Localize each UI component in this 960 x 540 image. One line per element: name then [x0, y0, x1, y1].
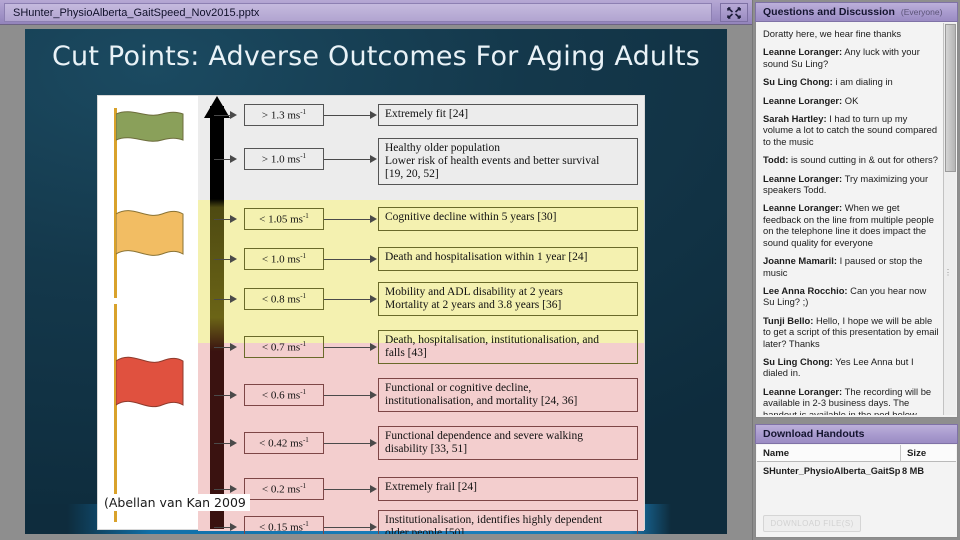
outcome-description-box: Functional or cognitive decline,institut… — [378, 378, 638, 412]
gait-speed-threshold-box: < 0.7 ms-1 — [244, 336, 324, 358]
row-arrow-icon — [370, 485, 377, 493]
threshold-value: < 0.8 ms-1 — [262, 292, 306, 306]
row-arrow-icon — [370, 155, 377, 163]
row-arrow-icon — [370, 295, 377, 303]
row-inbound-connector — [214, 395, 232, 396]
gait-speed-threshold-box: < 0.8 ms-1 — [244, 288, 324, 310]
chat-message-author: Su Ling Chong: — [763, 356, 833, 367]
outcome-line: Functional or cognitive decline, — [385, 382, 631, 395]
outcome-line: Functional dependence and severe walking — [385, 430, 631, 443]
chat-message-author: Sarah Hartley: — [763, 113, 827, 124]
threshold-exponent: -1 — [300, 340, 306, 348]
share-pod: SHunter_PhysioAlberta_GaitSpeed_Nov2015.… — [0, 0, 752, 540]
column-header-name: Name — [757, 448, 900, 459]
row-connector — [324, 395, 370, 396]
chat-message-author: Joanne Mamaril: — [763, 255, 837, 266]
row-connector — [324, 219, 370, 220]
outcome-line: institutionalisation, and mortality [24,… — [385, 395, 631, 408]
threshold-exponent: -1 — [300, 252, 306, 260]
red-flag — [116, 351, 184, 421]
chat-message: Leanne Loranger: The recording will be a… — [763, 386, 940, 415]
fullscreen-icon[interactable] — [720, 3, 748, 22]
row-arrow-icon — [370, 215, 377, 223]
chat-scrollbar-grip: ⋮ — [944, 268, 952, 277]
column-header-size: Size — [900, 445, 956, 461]
table-row[interactable]: SHunter_PhysioAlberta_GaitSpeed 8 MB — [757, 462, 956, 479]
threshold-exponent: -1 — [300, 482, 306, 490]
outcome-line: Extremely fit [24] — [385, 108, 631, 121]
outcome-line: Death and hospitalisation within 1 year … — [385, 251, 631, 264]
gait-speed-threshold-box: < 0.6 ms-1 — [244, 384, 324, 406]
threshold-value: < 0.2 ms-1 — [262, 482, 306, 496]
row-arrow-icon — [370, 343, 377, 351]
share-pod-body: Cut Points: Adverse Outcomes For Aging A… — [0, 25, 752, 540]
outcome-description-box: Death, hospitalisation, institutionalisa… — [378, 330, 638, 364]
handouts-pod-title: Download Handouts — [763, 428, 865, 440]
row-connector — [324, 159, 370, 160]
outcome-description-box: Extremely frail [24] — [378, 477, 638, 501]
handouts-body: Name Size SHunter_PhysioAlberta_GaitSpee… — [755, 444, 958, 538]
row-inbound-connector — [214, 443, 232, 444]
handout-file-size: 8 MB — [900, 466, 956, 476]
chat-message-author: Su Ling Chong: — [763, 76, 833, 87]
threshold-value: < 1.05 ms-1 — [259, 212, 309, 226]
threshold-value: < 0.15 ms-1 — [259, 520, 309, 534]
chat-message-author: Leanne Loranger: — [763, 386, 842, 397]
row-connector — [324, 489, 370, 490]
chat-message: Todd: is sound cutting in & out for othe… — [763, 154, 940, 165]
chat-pod: Questions and Discussion (Everyone) Dora… — [755, 2, 958, 418]
gait-speed-threshold-box: > 1.3 ms-1 — [244, 104, 324, 126]
row-inbound-connector — [214, 347, 232, 348]
chat-message-text: is sound cutting in & out for others? — [788, 154, 938, 165]
outcome-description-box: Mobility and ADL disability at 2 yearsMo… — [378, 282, 638, 316]
outcome-line: Death, hospitalisation, institutionalisa… — [385, 334, 631, 347]
chat-message: Su Ling Chong: Yes Lee Anna but I dialed… — [763, 356, 940, 379]
chat-message-author: Todd: — [763, 154, 788, 165]
outcome-description-box: Institutionalisation, identifies highly … — [378, 510, 638, 534]
right-column: Questions and Discussion (Everyone) Dora… — [753, 0, 960, 540]
threshold-value: > 1.0 ms-1 — [262, 152, 306, 166]
threshold-exponent: -1 — [303, 436, 309, 444]
row-inbound-connector — [214, 489, 232, 490]
chat-message: Joanne Mamaril: I paused or stop the mus… — [763, 255, 940, 278]
row-inbound-connector — [214, 115, 232, 116]
row-inbound-connector — [214, 219, 232, 220]
gait-speed-threshold-box: < 0.42 ms-1 — [244, 432, 324, 454]
outcome-line: Lower risk of health events and better s… — [385, 155, 631, 168]
threshold-exponent: -1 — [300, 108, 306, 116]
gait-speed-threshold-box: < 1.0 ms-1 — [244, 248, 324, 270]
gait-speed-threshold-box: > 1.0 ms-1 — [244, 148, 324, 170]
chat-message-author: Leanne Loranger: — [763, 46, 842, 57]
outcome-description-box: Cognitive decline within 5 years [30] — [378, 207, 638, 231]
gait-speed-threshold-box: < 0.2 ms-1 — [244, 478, 324, 500]
chat-scrollbar-thumb[interactable] — [945, 24, 956, 172]
chat-pod-header: Questions and Discussion (Everyone) — [755, 2, 958, 22]
gait-speed-figure: > 1.3 ms-1Extremely fit [24]> 1.0 ms-1He… — [97, 95, 645, 530]
threshold-exponent: -1 — [303, 212, 309, 220]
outcome-line: older people [50] — [385, 527, 631, 534]
share-pod-titlebar: SHunter_PhysioAlberta_GaitSpeed_Nov2015.… — [0, 0, 752, 25]
outcome-line: Mortality at 2 years and 3.8 years [36] — [385, 299, 631, 312]
row-connector — [324, 299, 370, 300]
chat-message-text: OK — [842, 95, 858, 106]
chat-message-text: Doratty here, we hear fine thanks — [763, 28, 901, 39]
threshold-exponent: -1 — [303, 520, 309, 528]
row-arrow-icon — [370, 391, 377, 399]
page-title: Cut Points: Adverse Outcomes For Aging A… — [25, 41, 727, 72]
row-inbound-connector — [214, 299, 232, 300]
outcome-description-box: Extremely fit [24] — [378, 104, 638, 126]
threshold-exponent: -1 — [300, 152, 306, 160]
row-inbound-connector — [214, 527, 232, 528]
row-connector — [324, 527, 370, 528]
chat-pod-audience: (Everyone) — [901, 7, 943, 17]
handouts-table-header: Name Size — [757, 445, 956, 462]
threshold-value: > 1.3 ms-1 — [262, 108, 306, 122]
handouts-pod-header: Download Handouts — [755, 424, 958, 444]
chat-pod-title: Questions and Discussion — [763, 6, 895, 18]
outcome-line: Institutionalisation, identifies highly … — [385, 514, 631, 527]
row-arrow-icon — [370, 439, 377, 447]
gait-speed-threshold-box: < 0.15 ms-1 — [244, 516, 324, 534]
threshold-value: < 0.7 ms-1 — [262, 340, 306, 354]
figure-citation: (Abellan van Kan 2009 — [100, 494, 250, 511]
threshold-exponent: -1 — [300, 388, 306, 396]
arrow-shaft — [210, 106, 224, 529]
row-inbound-connector — [214, 259, 232, 260]
chat-message: Leanne Loranger: OK — [763, 95, 940, 106]
outcome-line: Healthy older population — [385, 142, 631, 155]
row-connector — [324, 443, 370, 444]
chat-message: Sarah Hartley: I had to turn up my volum… — [763, 113, 940, 147]
chat-message: Leanne Loranger: When we get feedback on… — [763, 202, 940, 248]
chat-message: Doratty here, we hear fine thanks — [763, 28, 940, 39]
webinar-window: SHunter_PhysioAlberta_GaitSpeed_Nov2015.… — [0, 0, 960, 540]
chat-message-author: Leanne Loranger: — [763, 173, 842, 184]
row-connector — [324, 347, 370, 348]
handouts-pod: Download Handouts Name Size SHunter_Phys… — [755, 424, 958, 538]
amber-flag — [116, 206, 184, 268]
row-inbound-connector — [214, 159, 232, 160]
slide-canvas[interactable]: Cut Points: Adverse Outcomes For Aging A… — [25, 29, 727, 534]
outcome-line: Cognitive decline within 5 years [30] — [385, 211, 631, 224]
share-pod-title-area: SHunter_PhysioAlberta_GaitSpeed_Nov2015.… — [4, 3, 712, 22]
chat-scrollbar[interactable]: ⋮ — [943, 23, 956, 415]
threshold-value: < 0.42 ms-1 — [259, 436, 309, 450]
gait-speed-threshold-box: < 1.05 ms-1 — [244, 208, 324, 230]
outcome-description-box: Healthy older populationLower risk of he… — [378, 138, 638, 185]
green-flag — [116, 110, 184, 150]
chat-message: Su Ling Chong: i am dialing in — [763, 76, 940, 87]
row-arrow-icon — [370, 111, 377, 119]
row-connector — [324, 259, 370, 260]
outcome-line: disability [33, 51] — [385, 443, 631, 456]
row-arrow-icon — [370, 255, 377, 263]
chat-message-author: Leanne Loranger: — [763, 95, 842, 106]
severity-arrow-icon — [204, 96, 230, 529]
chat-message-author: Tunji Bello: — [763, 315, 813, 326]
presentation-file-name: SHunter_PhysioAlberta_GaitSpeed_Nov2015.… — [5, 7, 259, 19]
chat-message-list[interactable]: Doratty here, we hear fine thanksLeanne … — [757, 23, 945, 415]
outcome-line: Mobility and ADL disability at 2 years — [385, 286, 631, 299]
outcome-description-box: Functional dependence and severe walking… — [378, 426, 638, 460]
row-connector — [324, 115, 370, 116]
chat-body: Doratty here, we hear fine thanksLeanne … — [755, 22, 958, 418]
chat-message-author: Leanne Loranger: — [763, 202, 842, 213]
chat-message: Leanne Loranger: Any luck with your soun… — [763, 46, 940, 69]
chat-message: Leanne Loranger: Try maximizing your spe… — [763, 173, 940, 196]
row-arrow-icon — [370, 523, 377, 531]
chat-message-text: i am dialing in — [833, 76, 893, 87]
download-files-button[interactable]: DOWNLOAD FILE(S) — [763, 515, 861, 532]
outcome-description-box: Death and hospitalisation within 1 year … — [378, 247, 638, 271]
outcome-line: [19, 20, 52] — [385, 168, 631, 181]
threshold-value: < 1.0 ms-1 — [262, 252, 306, 266]
flag-column — [98, 96, 198, 529]
chat-message: Lee Anna Rocchio: Can you hear now Su Li… — [763, 285, 940, 308]
threshold-value: < 0.6 ms-1 — [262, 388, 306, 402]
chat-message: Tunji Bello: Hello, I hope we will be ab… — [763, 315, 940, 349]
chat-message-author: Lee Anna Rocchio: — [763, 285, 848, 296]
threshold-exponent: -1 — [300, 292, 306, 300]
handout-file-name: SHunter_PhysioAlberta_GaitSpeed — [757, 466, 900, 476]
outcome-line: falls [43] — [385, 347, 631, 360]
outcome-line: Extremely frail [24] — [385, 481, 631, 494]
